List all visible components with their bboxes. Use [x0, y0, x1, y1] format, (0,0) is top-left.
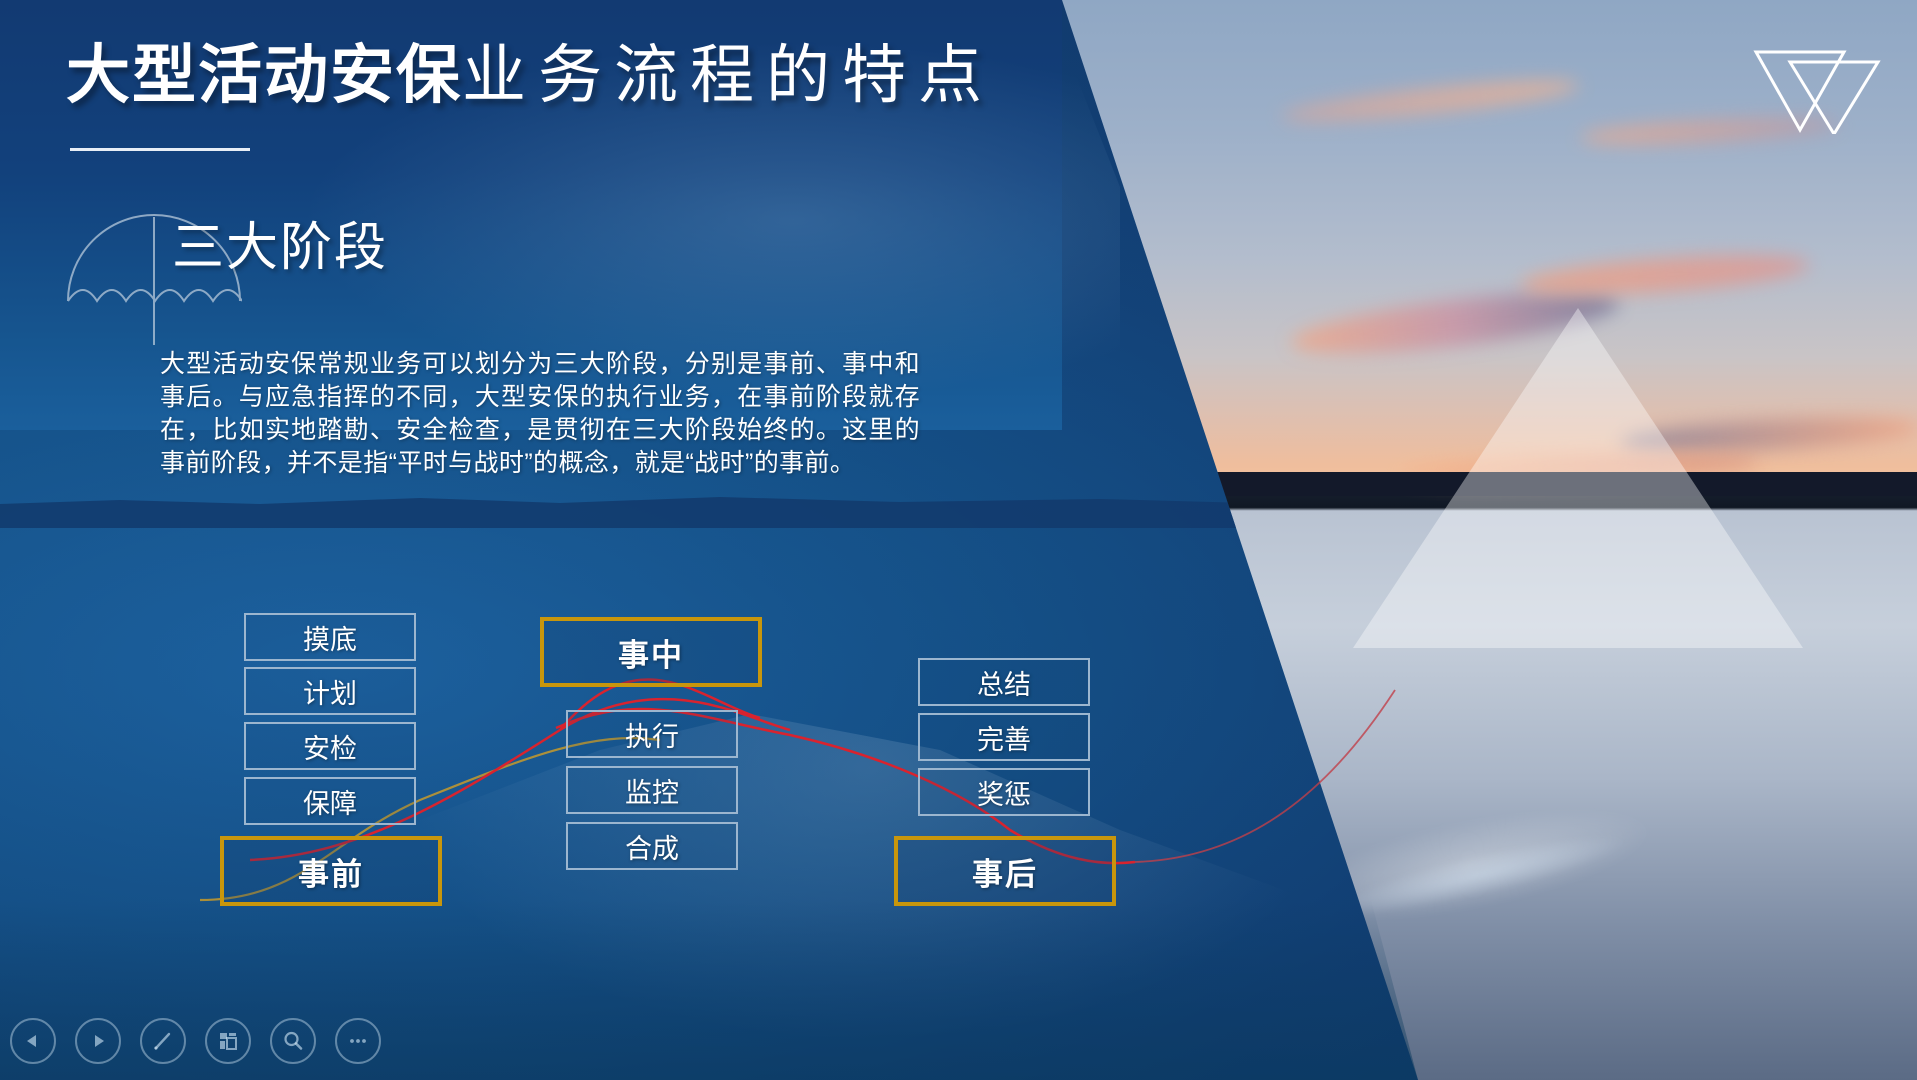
pen-icon: [152, 1030, 174, 1052]
next-slide-button[interactable]: [75, 1018, 121, 1064]
triangle-right-icon: [90, 1033, 106, 1049]
stage-before-item-0[interactable]: 摸底: [244, 613, 416, 661]
stage-before-item-2[interactable]: 安检: [244, 722, 416, 770]
more-options-button[interactable]: [335, 1018, 381, 1064]
previous-slide-button[interactable]: [10, 1018, 56, 1064]
ellipsis-icon: [347, 1030, 369, 1052]
three-stage-diagram: 摸底 计划 安检 保障 事前 事中 执行 监控 合成 总结 完善 奖惩 事后: [0, 0, 1917, 1080]
process-flow-curve: [0, 0, 1917, 1080]
triangle-left-icon: [25, 1033, 41, 1049]
zoom-button[interactable]: [270, 1018, 316, 1064]
stage-after-item-2[interactable]: 奖惩: [918, 768, 1090, 816]
slideshow-toolbar: [10, 1018, 381, 1064]
stage-after-item-0[interactable]: 总结: [918, 658, 1090, 706]
stage-during-item-2[interactable]: 合成: [566, 822, 738, 870]
stage-during-label[interactable]: 事中: [540, 617, 762, 687]
slide-overview-button[interactable]: [205, 1018, 251, 1064]
stage-after-label[interactable]: 事后: [894, 836, 1116, 906]
stage-before-label[interactable]: 事前: [220, 836, 442, 906]
stage-before-item-1[interactable]: 计划: [244, 667, 416, 715]
presentation-slide: 大型活动安保业务流程的特点 三大阶段 大型活动安保常规业务可以划分为三大阶段，分…: [0, 0, 1917, 1080]
pen-tool-button[interactable]: [140, 1018, 186, 1064]
grid-icon: [217, 1030, 239, 1052]
magnifier-icon: [282, 1030, 304, 1052]
stage-before-item-3[interactable]: 保障: [244, 777, 416, 825]
stage-after-item-1[interactable]: 完善: [918, 713, 1090, 761]
stage-during-item-0[interactable]: 执行: [566, 710, 738, 758]
stage-during-item-1[interactable]: 监控: [566, 766, 738, 814]
